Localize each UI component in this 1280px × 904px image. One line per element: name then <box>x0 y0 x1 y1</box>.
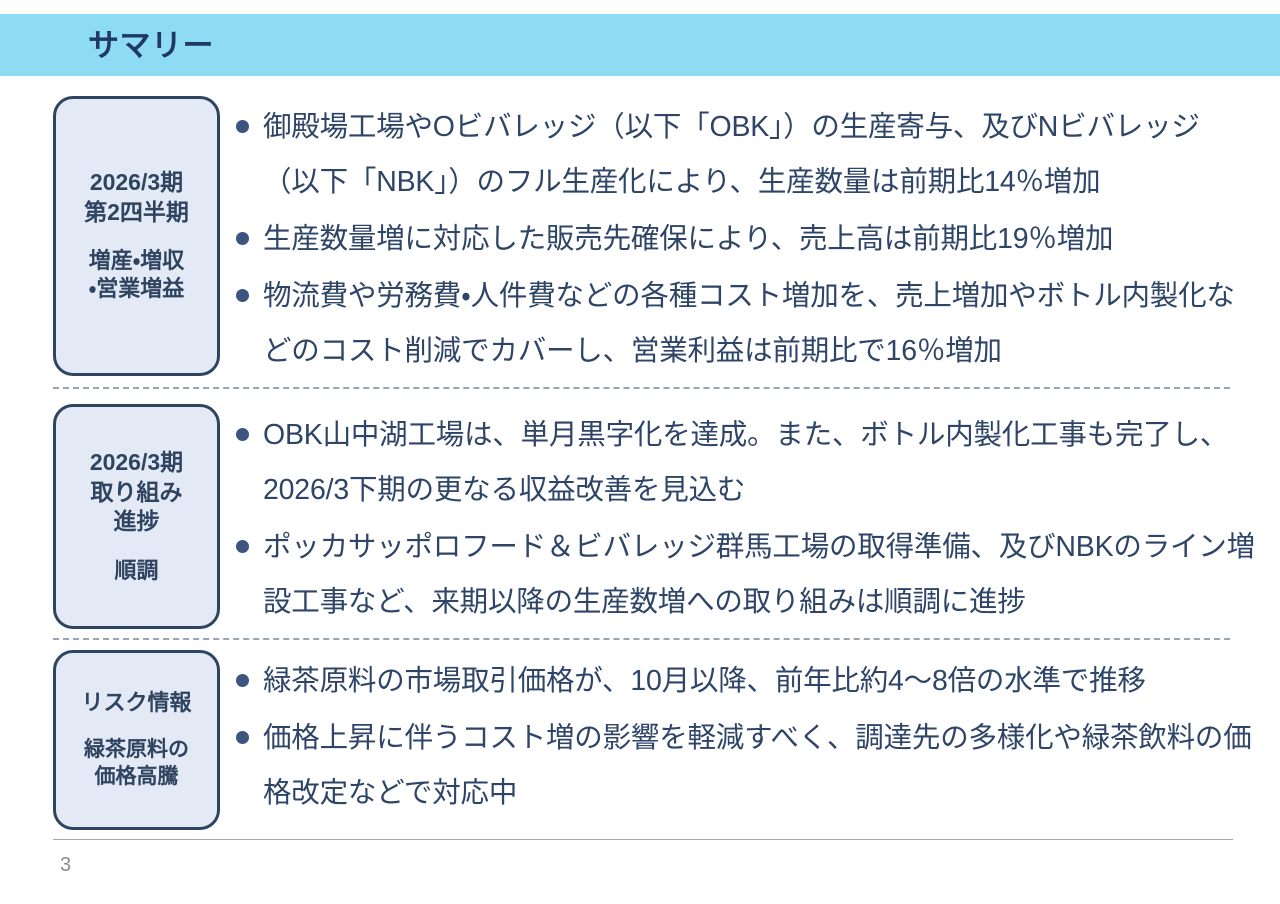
bullet-list: OBK山中湖工場は、単月黒字化を達成。また、ボトル内製化工事も完了し、2026/… <box>236 408 1256 632</box>
bullet-text: ポッカサッポロフード＆ビバレッジ群馬工場の取得準備、及びNBKのライン増設工事な… <box>263 520 1256 630</box>
section-label-primary: リスク情報 <box>81 689 191 717</box>
bullet-dot-icon <box>236 120 249 133</box>
list-item: 御殿場工場やOビバレッジ（以下「OBK」）の生産寄与、及びNビバレッジ（以下「N… <box>236 100 1256 210</box>
bullet-dot-icon <box>236 674 249 687</box>
section-divider <box>53 387 1230 389</box>
section-label-box: リスク情報 緑茶原料の 価格高騰 <box>53 650 220 830</box>
list-item: 価格上昇に伴うコスト増の影響を軽減すべく、調達先の多様化や緑茶飲料の価格改定など… <box>236 711 1256 821</box>
section-divider <box>53 638 1230 640</box>
bullet-list: 緑茶原料の市場取引価格が、10月以降、前年比約4～8倍の水準で推移 価格上昇に伴… <box>236 654 1256 823</box>
section-label-primary: 2026/3期 取り組み 進捗 <box>90 448 183 536</box>
section-label-box: 2026/3期 第2四半期 増産・増収 ・営業増益 <box>53 96 220 376</box>
page-title: サマリー <box>88 30 214 61</box>
bullet-text: OBK山中湖工場は、単月黒字化を達成。また、ボトル内製化工事も完了し、2026/… <box>263 408 1256 518</box>
list-item: 緑茶原料の市場取引価格が、10月以降、前年比約4～8倍の水準で推移 <box>236 654 1256 709</box>
progress-section: 2026/3期 取り組み 進捗 順調 OBK山中湖工場は、単月黒字化を達成。また… <box>0 404 1280 638</box>
bullet-text: 生産数量増に対応した販売先確保により、売上高は前期比19％増加 <box>263 212 1256 267</box>
header-banner: サマリー <box>0 14 1280 76</box>
list-item: ポッカサッポロフード＆ビバレッジ群馬工場の取得準備、及びNBKのライン増設工事な… <box>236 520 1256 630</box>
section-label-secondary: 順調 <box>114 557 158 585</box>
list-item: 生産数量増に対応した販売先確保により、売上高は前期比19％増加 <box>236 212 1256 267</box>
list-item: 物流費や労務費・人件費などの各種コスト増加を、売上増加やボトル内製化などのコスト… <box>236 269 1256 379</box>
section-label-box: 2026/3期 取り組み 進捗 順調 <box>53 404 220 629</box>
page-number: 3 <box>60 855 71 875</box>
bullet-text: 御殿場工場やOビバレッジ（以下「OBK」）の生産寄与、及びNビバレッジ（以下「N… <box>263 100 1256 210</box>
bullet-list: 御殿場工場やOビバレッジ（以下「OBK」）の生産寄与、及びNビバレッジ（以下「N… <box>236 100 1256 381</box>
summary-section: 2026/3期 第2四半期 増産・増収 ・営業増益 御殿場工場やOビバレッジ（以… <box>0 96 1280 382</box>
list-item: OBK山中湖工場は、単月黒字化を達成。また、ボトル内製化工事も完了し、2026/… <box>236 408 1256 518</box>
risk-section: リスク情報 緑茶原料の 価格高騰 緑茶原料の市場取引価格が、10月以降、前年比約… <box>0 650 1280 838</box>
section-label-secondary: 緑茶原料の 価格高騰 <box>84 737 189 791</box>
bullet-dot-icon <box>236 428 249 441</box>
bullet-dot-icon <box>236 289 249 302</box>
section-label-secondary: 増産・増収 ・営業増益 <box>89 247 184 303</box>
bullet-dot-icon <box>236 232 249 245</box>
bullet-dot-icon <box>236 540 249 553</box>
bullet-text: 物流費や労務費・人件費などの各種コスト増加を、売上増加やボトル内製化などのコスト… <box>263 269 1256 379</box>
section-label-primary: 2026/3期 第2四半期 <box>84 168 189 227</box>
footer-rule <box>53 839 1233 840</box>
bullet-text: 緑茶原料の市場取引価格が、10月以降、前年比約4～8倍の水準で推移 <box>263 654 1256 709</box>
bullet-dot-icon <box>236 731 249 744</box>
bullet-text: 価格上昇に伴うコスト増の影響を軽減すべく、調達先の多様化や緑茶飲料の価格改定など… <box>263 711 1256 821</box>
